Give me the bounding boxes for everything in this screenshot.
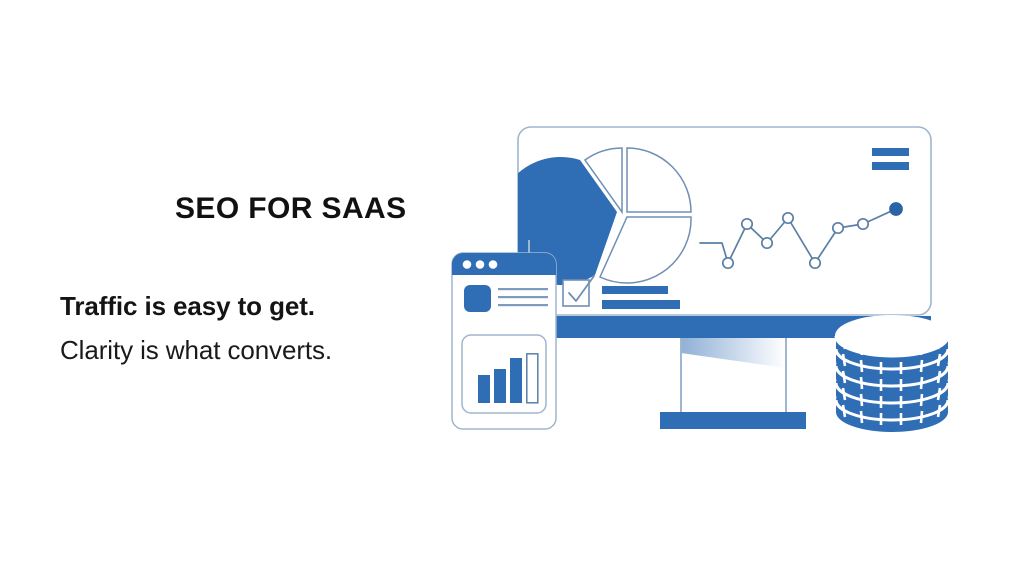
- coin-top-face: [836, 316, 948, 356]
- pie-chart: [497, 148, 691, 285]
- monitor-stand-base: [660, 412, 806, 429]
- line-chart-path: [700, 209, 896, 263]
- coin-top-face-inner: [839, 318, 945, 354]
- monitor-stand-shade: [681, 338, 786, 368]
- pie-slice-quaternary: [600, 217, 691, 283]
- monitor-stand: [660, 338, 806, 429]
- coin-stack: [836, 316, 948, 432]
- bar-1: [478, 375, 490, 403]
- text-line: [498, 304, 548, 306]
- coin-top: [836, 329, 948, 369]
- checkbox[interactable]: [563, 280, 589, 306]
- check-icon: [569, 276, 594, 301]
- mini-bar-chart: [478, 354, 538, 403]
- line-marker: [783, 213, 793, 223]
- line-marker: [833, 223, 843, 233]
- subheadline-bold: Traffic is easy to get.: [60, 292, 315, 322]
- monitor-screen: [518, 127, 931, 315]
- pie-slice-secondary: [585, 148, 622, 212]
- banner-canvas: SEO FOR SAAS Traffic is easy to get. Cla…: [0, 0, 1024, 576]
- browser-window-mockup: [452, 240, 556, 429]
- coin-separator: [836, 336, 948, 356]
- monitor-stand-leg-right: [785, 338, 787, 414]
- mini-bar-chart-card: [462, 335, 546, 413]
- bar-3: [510, 358, 522, 403]
- avatar: [464, 285, 491, 312]
- bar-4: [527, 354, 538, 403]
- line-marker: [858, 219, 868, 229]
- coin-body: [836, 383, 948, 415]
- coin-body: [836, 336, 948, 368]
- bar-2: [494, 369, 506, 403]
- label-bar-long: [602, 300, 680, 309]
- window-dot-minimize[interactable]: [476, 260, 485, 269]
- coin-segment-ticks: [843, 337, 940, 425]
- coin-body: [836, 366, 948, 398]
- line-marker: [742, 219, 752, 229]
- monitor-bottom-bar: [555, 316, 931, 338]
- window-dot-maximize[interactable]: [489, 260, 498, 269]
- checkbox-with-labels: [563, 276, 680, 309]
- coin-top: [836, 316, 948, 356]
- line-marker: [810, 258, 820, 268]
- mockup-stem: [528, 240, 530, 260]
- line-marker: [762, 238, 772, 248]
- menu-bar-bottom: [872, 162, 909, 170]
- mockup-frame: [452, 253, 556, 429]
- coin-separator: [836, 349, 948, 369]
- coin-top: [836, 380, 948, 420]
- coin-separator: [836, 366, 948, 386]
- coin-top: [836, 363, 948, 403]
- subheadline-regular: Clarity is what converts.: [60, 336, 332, 366]
- mockup-titlebar: [452, 253, 556, 275]
- page-title: SEO FOR SAAS: [175, 192, 475, 225]
- line-chart-markers: [723, 203, 902, 268]
- line-chart: [700, 209, 896, 263]
- label-bar-short: [602, 286, 668, 294]
- coin-top: [836, 346, 948, 386]
- coin-body: [836, 349, 948, 381]
- hamburger-menu-icon[interactable]: [872, 148, 909, 170]
- pie-slice-tertiary: [627, 148, 691, 212]
- coin-separator: [836, 400, 948, 420]
- line-marker-current: [890, 203, 902, 215]
- window-dot-close[interactable]: [463, 260, 472, 269]
- pie-slice-primary: [497, 157, 617, 285]
- menu-bar-top: [872, 148, 909, 156]
- analytics-dashboard-illustration: [0, 0, 1024, 576]
- coin-separator: [836, 383, 948, 403]
- text-line: [498, 296, 548, 298]
- desktop-monitor: [497, 127, 931, 338]
- monitor-stand-leg-left: [680, 338, 682, 414]
- text-line: [498, 288, 548, 290]
- coin-body: [836, 400, 948, 432]
- line-marker: [723, 258, 733, 268]
